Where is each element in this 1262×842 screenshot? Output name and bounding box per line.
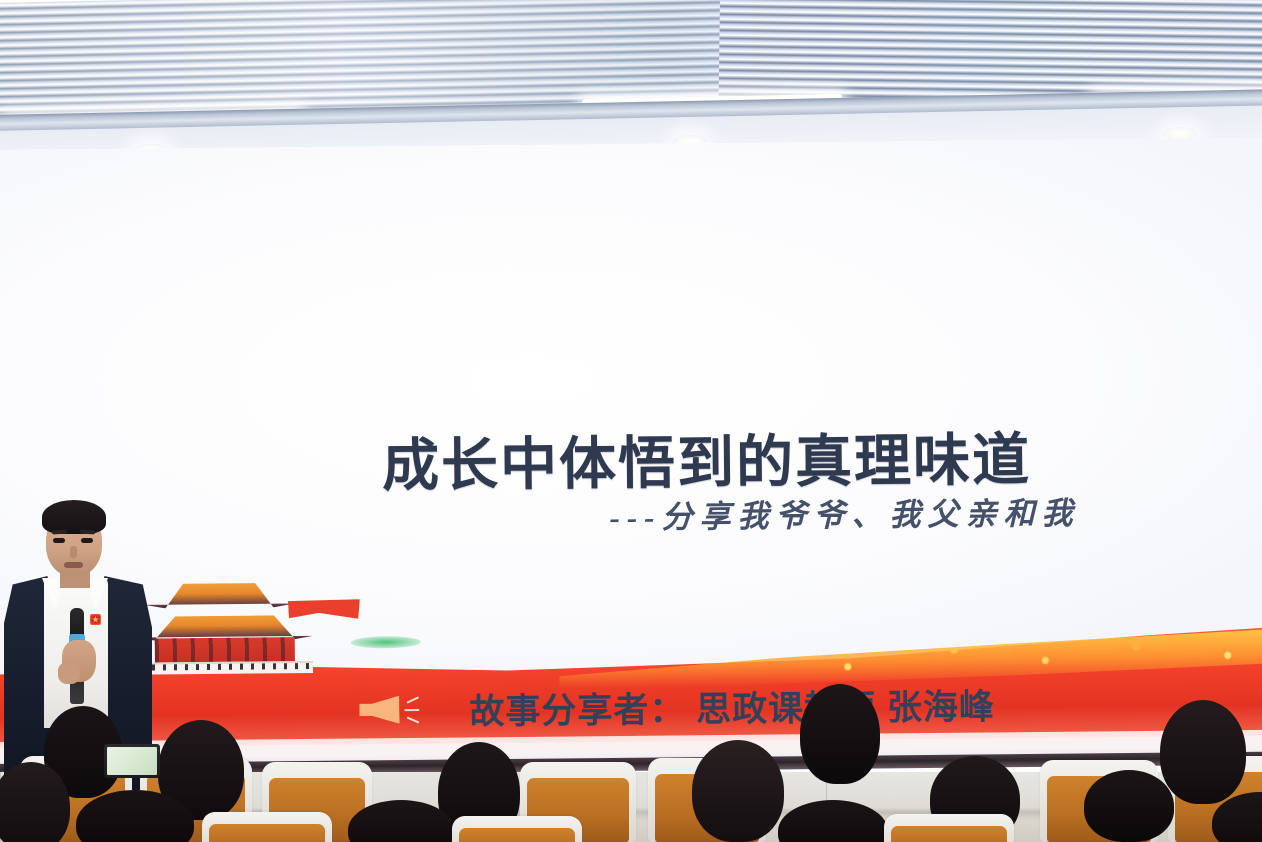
presenter-line: 故事分享者： 思政课教师 张海峰 — [359, 678, 995, 735]
projection-screen: 成长中体悟到的真理味道 ---分享我爷爷、我父亲和我 故事分享者： 思政课教师 … — [0, 138, 1262, 770]
tiananmen-gate-icon — [136, 579, 317, 679]
party-emblem-badge — [90, 614, 101, 625]
presenter-label: 故事分享者： 思政课教师 张海峰 — [469, 678, 995, 734]
presenter-hair — [42, 500, 106, 534]
speaker-megaphone-icon — [359, 689, 421, 730]
tiananmen-balustrade — [141, 661, 313, 675]
presenter-nose — [70, 546, 77, 558]
slide-subtitle: ---分享我爷爷、我父亲和我 — [609, 486, 1262, 537]
sprinkler-head — [259, 125, 268, 142]
presenter-eye-right — [81, 538, 93, 543]
presenter-eye-left — [53, 538, 65, 543]
presenter-hand-secondary — [58, 662, 80, 684]
presentation-photo-scene: 成长中体悟到的真理味道 ---分享我爷爷、我父亲和我 故事分享者： 思政课教师 … — [0, 0, 1262, 842]
stage-wall — [0, 772, 1262, 842]
tiananmen-upper-roof — [144, 581, 294, 608]
presenter-mouth — [64, 562, 83, 568]
presenter-person — [2, 500, 154, 790]
sprinkler-head — [825, 116, 834, 133]
